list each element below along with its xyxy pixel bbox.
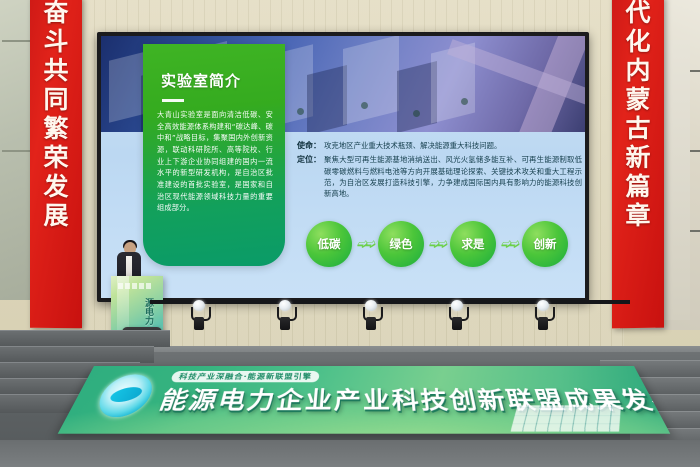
banner-right-char-0: 代 [625,0,650,27]
keyword-circle-green: 绿色 [378,221,424,267]
keyword-circle-seek-truth: 求是 [450,221,496,267]
led-screen-frame: 实验室简介 大青山实验室是面向清洁低碳、安全高效能源体系构建和“碳达峰、碳中和”… [97,32,589,302]
banner-right-char-1: 化 [625,27,650,56]
conference-hall-photo: 奋 斗 共 同 繁 荣 发 展 代 化 内 蒙 古 新 篇 章 [0,0,700,467]
title-underline [162,99,184,102]
moving-head-light [362,300,380,330]
keyword-circle-low-carbon: 低碳 [306,221,352,267]
banner-right-char-4: 古 [625,114,650,143]
podium-logo [118,283,152,289]
banner-left-char-0: 奋 [43,0,68,27]
chevron-right-icon: ➫➫ [352,237,378,252]
chevron-right-icon: ➫➫ [496,237,522,252]
moving-head-light [190,300,208,330]
hall-floor [0,440,700,467]
banner-left-char-5: 荣 [43,143,68,172]
moving-head-light [534,300,552,330]
presentation-slide: 实验室简介 大青山实验室是面向清洁低碳、安全高效能源体系构建和“碳达峰、碳中和”… [101,36,585,298]
banner-left-char-2: 共 [43,56,68,85]
banner-left-char-4: 繁 [43,114,68,143]
positioning-text: 聚焦大型可再生能源基地消纳送出、风光火氢储多能互补、可再生能源制取低碳零碳燃料与… [324,154,582,199]
mission-positioning-block: 使命： 攻克地区产业重大技术瓶颈、解决能源重大科技问题。 定位： 聚焦大型可再生… [297,140,582,202]
banner-right-char-6: 篇 [625,172,650,201]
positioning-label: 定位： [297,154,321,199]
banner-left-char-3: 同 [43,85,68,114]
moving-head-light [448,300,466,330]
banner-left-char-6: 发 [43,172,68,201]
stage-front-banner: 科技产业深融合·能源新联盟引擎 能源电力企业产业科技创新联盟成果发布会 [58,366,671,434]
positioning-row: 定位： 聚焦大型可再生能源基地消纳送出、风光火氢储多能互补、可再生能源制取低碳零… [297,154,582,199]
solar-panel-icon [511,405,621,431]
mission-text: 攻克地区产业重大技术瓶颈、解决能源重大科技问题。 [324,140,501,151]
mission-row: 使命： 攻克地区产业重大技术瓶颈、解决能源重大科技问题。 [297,140,582,151]
banner-subtitle: 科技产业深融合·能源新联盟引擎 [170,371,320,382]
keyword-circle-innovation: 创新 [522,221,568,267]
lab-intro-title: 实验室简介 [161,70,273,91]
mission-label: 使命： [297,140,321,151]
banner-left-char-7: 展 [43,201,68,230]
banner-right-char-3: 蒙 [625,85,650,114]
moving-head-light [276,300,294,330]
banner-right-char-7: 章 [625,201,650,230]
keyword-circle-row: 低碳 ➫➫ 绿色 ➫➫ 求是 ➫➫ 创新 [306,218,576,270]
lab-intro-body: 大青山实验室是面向清洁低碳、安全高效能源体系构建和“碳达峰、碳中和”战略目标，集… [157,109,273,214]
red-banner-left: 奋 斗 共 同 繁 荣 发 展 [30,0,82,328]
stage-lighting-row [190,300,590,332]
banner-right-char-5: 新 [625,143,650,172]
red-banner-right: 代 化 内 蒙 古 新 篇 章 [612,0,664,328]
banner-right-char-2: 内 [625,56,650,85]
lab-intro-card: 实验室简介 大青山实验室是面向清洁低碳、安全高效能源体系构建和“碳达峰、碳中和”… [143,44,285,266]
chevron-right-icon: ➫➫ [424,237,450,252]
banner-left-char-1: 斗 [43,27,68,56]
